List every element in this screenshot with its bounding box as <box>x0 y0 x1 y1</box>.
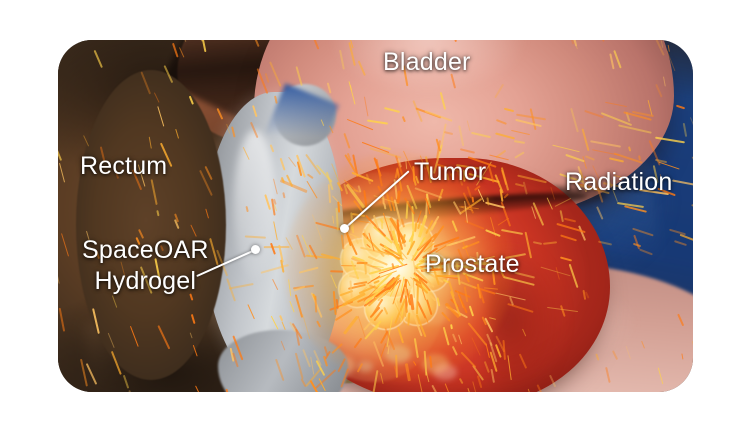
medical-illustration-card <box>58 40 693 392</box>
leader-line-tumor <box>343 170 409 229</box>
label-rectum: Rectum <box>80 152 167 182</box>
leader-line-layer <box>58 40 693 392</box>
label-radiation: Radiation <box>565 168 672 198</box>
label-spaceoar-hydrogel: SpaceOAR Hydrogel <box>82 235 209 296</box>
illustration-stage: Bladder Rectum Tumor Radiation Prostate … <box>0 0 750 430</box>
label-spaceoar-line2: Hydrogel <box>82 266 209 297</box>
label-bladder: Bladder <box>383 48 471 78</box>
leader-dot-tumor <box>340 224 349 233</box>
label-prostate: Prostate <box>425 250 520 280</box>
leader-dot-spaceoar <box>251 245 260 254</box>
label-spaceoar-line1: SpaceOAR <box>82 235 209 266</box>
label-tumor: Tumor <box>414 158 486 188</box>
